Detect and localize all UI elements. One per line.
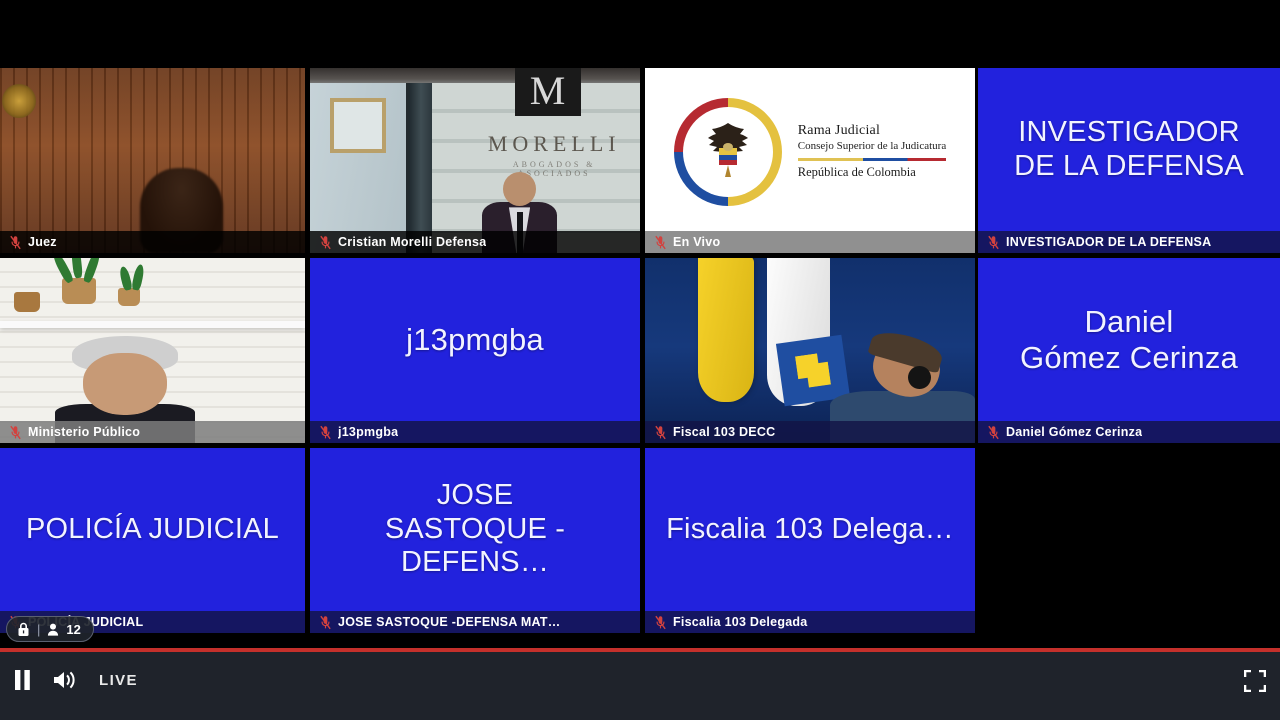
participant-label-en-vivo: En Vivo xyxy=(645,231,975,253)
fullscreen-button[interactable] xyxy=(1244,670,1266,692)
mic-muted-icon xyxy=(655,425,666,440)
rama-judicial-wordmark: Rama Judicial Consejo Superior de la Jud… xyxy=(798,123,946,180)
mic-muted-icon xyxy=(320,425,331,440)
participant-tile-fiscal-103-decc[interactable]: Fiscal 103 DECC xyxy=(645,258,975,443)
mic-muted-icon xyxy=(320,235,331,250)
mic-muted-icon xyxy=(988,235,999,250)
player-control-bar[interactable]: LIVE xyxy=(0,648,1280,720)
video-player[interactable]: Juez M MORELLIABOGADOS & ASOCIADOS xyxy=(0,0,1280,720)
participant-display-name: JOSE SASTOQUE -DEFENS… xyxy=(310,448,640,611)
mic-muted-icon xyxy=(988,425,999,440)
mic-muted-icon xyxy=(320,615,331,630)
rama-judicial-ring xyxy=(674,98,782,206)
juez-video-feed xyxy=(0,68,305,253)
participant-tile-policia-judicial[interactable]: POLICÍA JUDICIAL POLICÍA JUDICIAL xyxy=(0,448,305,633)
participant-label-cristian-morelli-defensa: Cristian Morelli Defensa xyxy=(310,231,640,253)
participant-tile-fiscalia-103-delegada[interactable]: Fiscalia 103 Delega… Fiscalia 103 Delega… xyxy=(645,448,975,633)
courtroom-emblem-icon xyxy=(2,84,36,118)
participant-name-text: Fiscalia 103 Delegada xyxy=(673,615,808,629)
live-indicator: LIVE xyxy=(99,672,138,689)
participant-label-ministerio-publico: Ministerio Público xyxy=(0,421,305,443)
participant-display-name: j13pmgba xyxy=(310,258,640,421)
participant-display-name: Fiscalia 103 Delega… xyxy=(645,448,975,611)
participant-tile-juez[interactable]: Juez xyxy=(0,68,305,253)
participant-display-name: INVESTIGADOR DE LA DEFENSA xyxy=(978,68,1280,231)
participant-name-text: Cristian Morelli Defensa xyxy=(338,235,486,249)
participant-display-name: POLICÍA JUDICIAL xyxy=(0,448,305,611)
cristian-morelli-video-feed: M MORELLIABOGADOS & ASOCIADOS xyxy=(310,68,640,253)
pill-separator: | xyxy=(37,622,40,637)
stream-status-pill[interactable]: | 12 xyxy=(6,616,94,642)
progress-played xyxy=(0,648,1280,652)
participant-grid: Juez M MORELLIABOGADOS & ASOCIADOS xyxy=(0,68,1280,638)
participant-tile-en-vivo[interactable]: Rama Judicial Consejo Superior de la Jud… xyxy=(645,68,975,253)
colombia-coat-of-arms-icon xyxy=(697,117,759,187)
participant-tile-cristian-morelli-defensa[interactable]: M MORELLIABOGADOS & ASOCIADOS Cristian M… xyxy=(310,68,640,253)
participant-tile-j13pmgba[interactable]: j13pmgba j13pmgba xyxy=(310,258,640,443)
participant-tile-jose-sastoque-defensa[interactable]: JOSE SASTOQUE -DEFENS… JOSE SASTOQUE -DE… xyxy=(310,448,640,633)
colombia-flag xyxy=(698,258,754,402)
participant-name-text: En Vivo xyxy=(673,235,720,249)
pause-icon xyxy=(14,670,31,690)
participant-tile-investigador-de-la-defensa[interactable]: INVESTIGADOR DE LA DEFENSA INVESTIGADOR … xyxy=(978,68,1280,253)
participant-label-jose-sastoque-defensa: JOSE SASTOQUE -DEFENSA MAT… xyxy=(310,611,640,633)
participant-name-text: Fiscal 103 DECC xyxy=(673,425,775,439)
person-icon xyxy=(47,623,59,636)
fiscal-103-decc-video-feed xyxy=(645,258,975,443)
participant-name-text: Juez xyxy=(28,235,57,249)
participant-name-text: JOSE SASTOQUE -DEFENSA MAT… xyxy=(338,615,561,629)
wall-picture-frame xyxy=(330,98,386,154)
participant-display-name: Daniel Gómez Cerinza xyxy=(978,258,1280,421)
mic-muted-icon xyxy=(10,235,21,250)
participant-name-text: Ministerio Público xyxy=(28,425,140,439)
participant-label-juez: Juez xyxy=(0,231,305,253)
branding-line-1: Rama Judicial xyxy=(798,123,946,140)
lock-icon xyxy=(17,622,30,637)
morelli-monogram: M xyxy=(515,68,581,116)
participant-label-daniel-gomez-cerinza: Daniel Gómez Cerinza xyxy=(978,421,1280,443)
participant-name-text: Daniel Gómez Cerinza xyxy=(1006,425,1142,439)
participant-name-text: INVESTIGADOR DE LA DEFENSA xyxy=(1006,235,1211,249)
en-vivo-video-feed: Rama Judicial Consejo Superior de la Jud… xyxy=(645,68,975,253)
participant-tile-daniel-gomez-cerinza[interactable]: Daniel Gómez Cerinza Daniel Gómez Cerinz… xyxy=(978,258,1280,443)
mic-muted-icon xyxy=(655,615,666,630)
participant-tile-ministerio-publico[interactable]: Ministerio Público xyxy=(0,258,305,443)
ministerio-publico-video-feed xyxy=(0,258,305,443)
volume-button[interactable] xyxy=(53,670,77,690)
mic-muted-icon xyxy=(10,425,21,440)
participant-label-investigador-de-la-defensa: INVESTIGADOR DE LA DEFENSA xyxy=(978,231,1280,253)
volume-icon xyxy=(53,670,77,690)
participant-label-fiscalia-103-delegada: Fiscalia 103 Delegada xyxy=(645,611,975,633)
pause-button[interactable] xyxy=(14,670,31,690)
branding-line-3: República de Colombia xyxy=(798,165,946,180)
participant-label-fiscal-103-decc: Fiscal 103 DECC xyxy=(645,421,975,443)
mic-muted-icon xyxy=(655,235,666,250)
participant-label-j13pmgba: j13pmgba xyxy=(310,421,640,443)
viewer-count: 12 xyxy=(66,622,80,637)
branding-tricolor-rule xyxy=(798,158,946,161)
participant-name-text: j13pmgba xyxy=(338,425,398,439)
video-stage[interactable]: Juez M MORELLIABOGADOS & ASOCIADOS xyxy=(0,0,1280,648)
progress-bar[interactable] xyxy=(0,648,1280,652)
branding-line-2: Consejo Superior de la Judicatura xyxy=(798,140,946,153)
fullscreen-icon xyxy=(1244,670,1266,692)
